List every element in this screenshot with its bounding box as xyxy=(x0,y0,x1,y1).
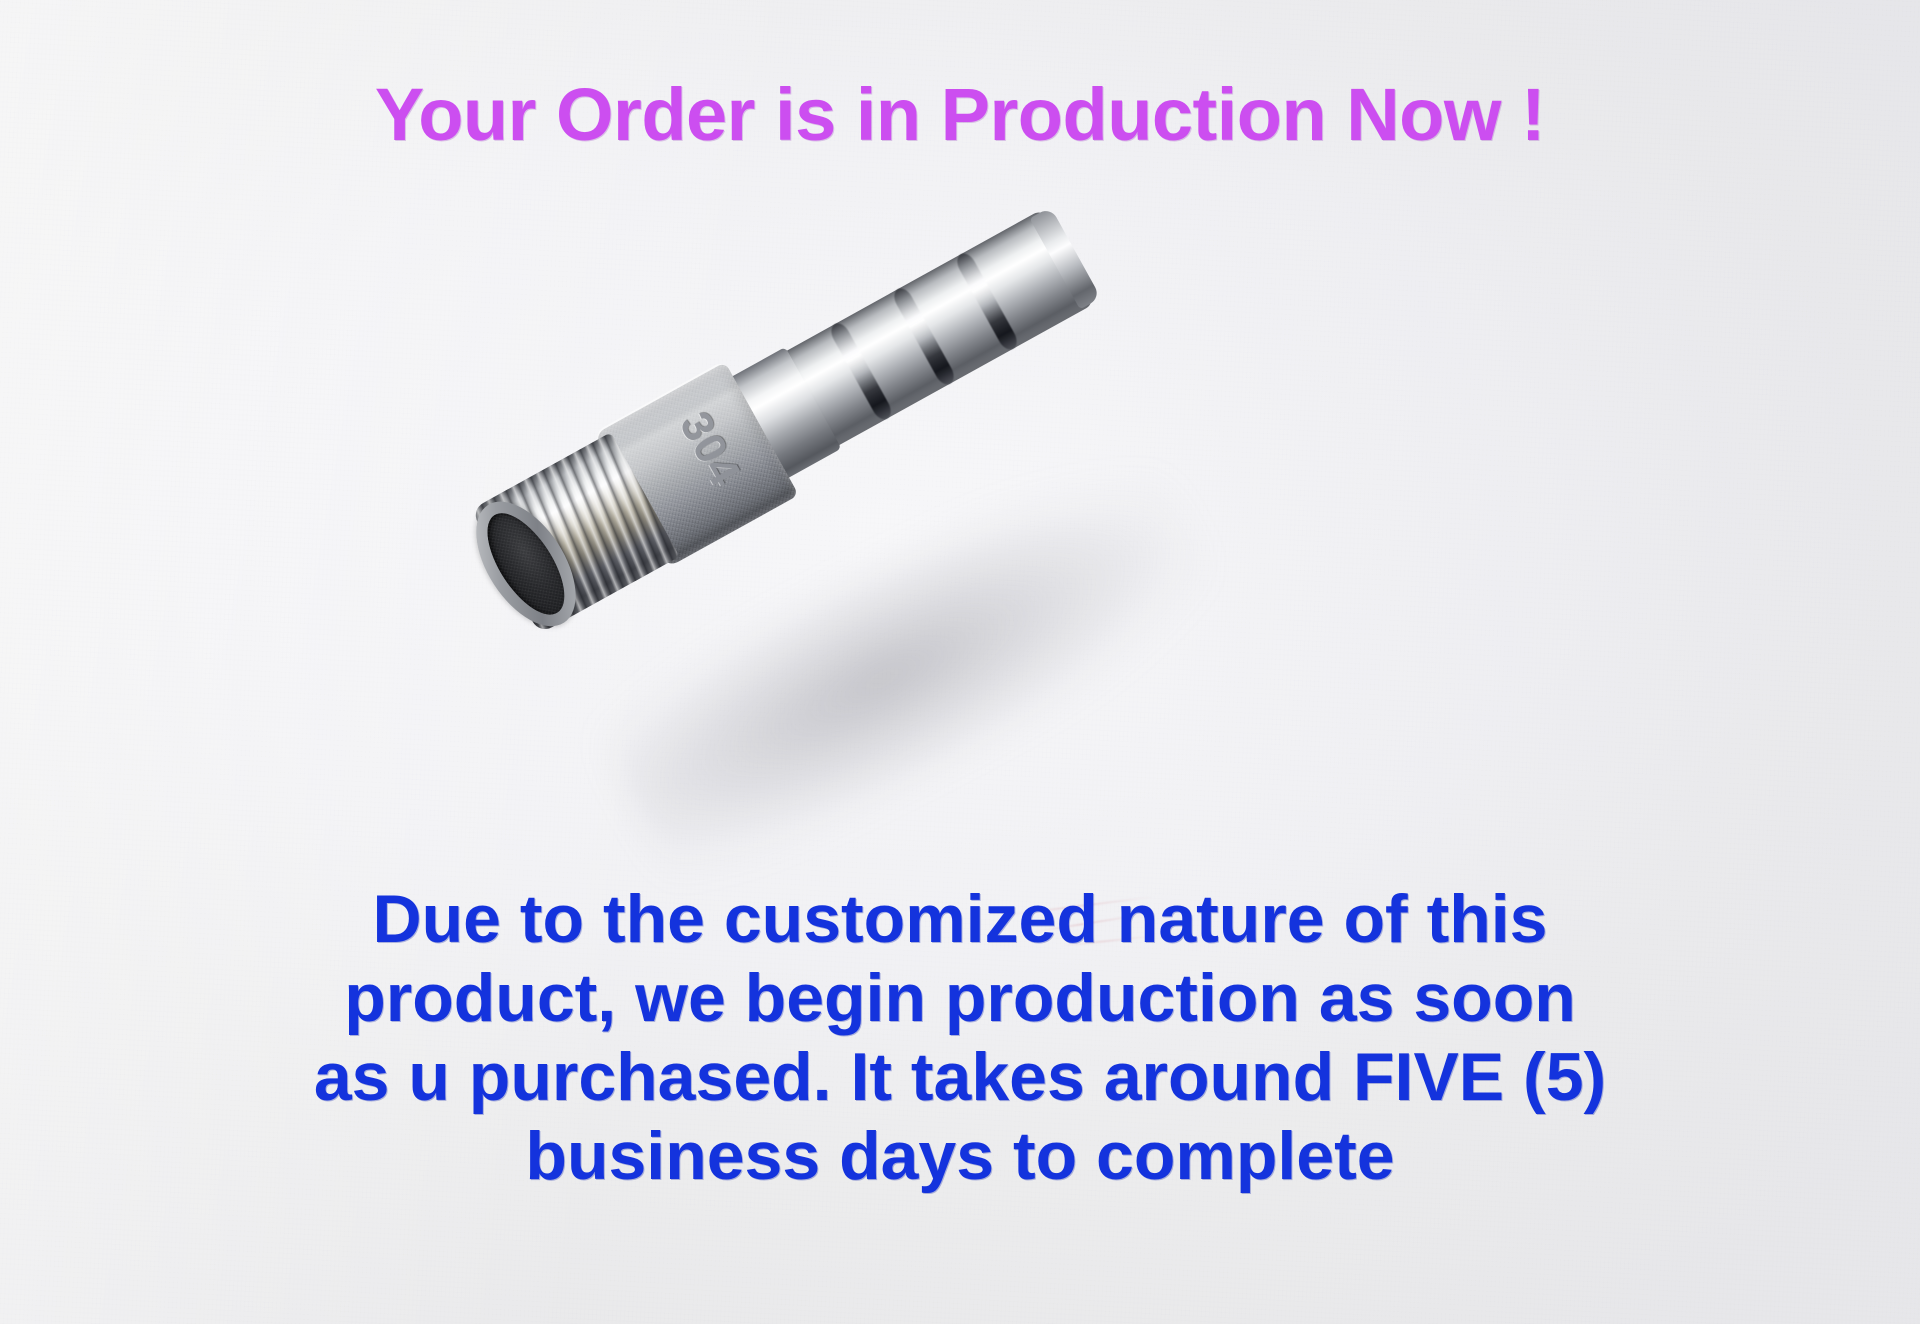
barb-ridge xyxy=(890,285,957,388)
barb-ridge xyxy=(953,250,1020,353)
notice-line-2: product, we begin production as soon xyxy=(0,959,1920,1038)
notice-line-1: Due to the customized nature of this xyxy=(0,880,1920,959)
notice-line-3: as u purchased. It takes around FIVE (5) xyxy=(0,1038,1920,1117)
production-notice: Due to the customized nature of this pro… xyxy=(0,880,1920,1196)
notice-line-4: business days to complete xyxy=(0,1117,1920,1196)
page-title: Your Order is in Production Now ! xyxy=(0,76,1920,154)
product-photo: 304 xyxy=(426,44,1361,835)
barb-ridge xyxy=(827,320,894,423)
promo-banner: Your Order is in Production Now ! 304 Du… xyxy=(0,0,1920,1324)
